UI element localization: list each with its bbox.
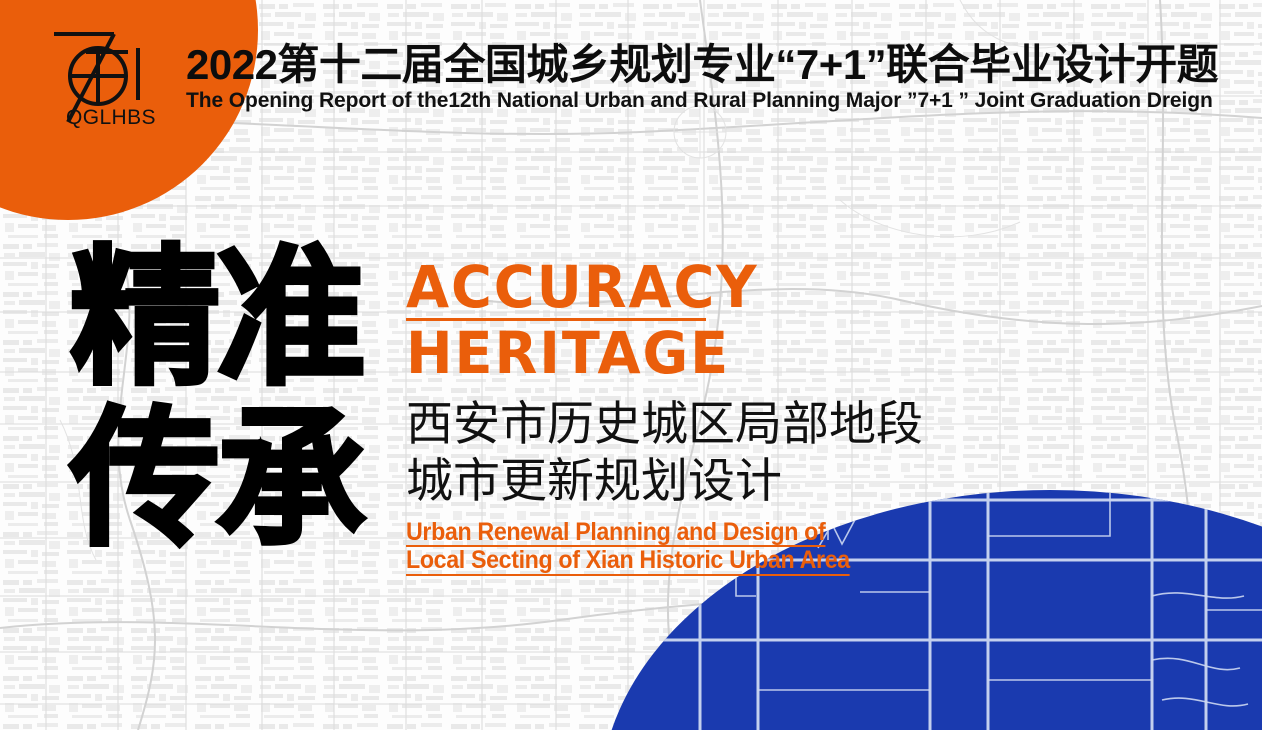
subject-chinese-line-1: 西安市历史城区局部地段 [406,396,923,453]
slogan-line-2: 传承 [70,409,362,552]
header-title-english: The Opening Report of the12th National U… [186,89,1218,113]
subject-english-block: Urban Renewal Planning and Design of Loc… [406,519,923,576]
subject-english-line-1: Urban Renewal Planning and Design of [406,519,825,548]
poster-canvas: QGLHBS 2022第十二届全国城乡规划专业“7+1”联合毕业设计开题 The… [0,0,1262,730]
subject-chinese-block: 西安市历史城区局部地段 城市更新规划设计 [406,396,923,511]
event-logo: QGLHBS [42,18,166,136]
header-block: 2022第十二届全国城乡规划专业“7+1”联合毕业设计开题 The Openin… [186,44,1218,113]
slogan-block: 精准 传承 [70,248,362,551]
slogan-line-1: 精准 [70,248,362,391]
logo-wordmark: QGLHBS [66,106,156,130]
subject-english-line-2: Local Secting of Xian Historic Urban Are… [406,547,850,576]
subject-block: ACCURACY HERITAGE 西安市历史城区局部地段 城市更新规划设计 U… [406,258,923,576]
header-title-chinese: 2022第十二届全国城乡规划专业“7+1”联合毕业设计开题 [186,44,1218,87]
subject-chinese-line-2: 城市更新规划设计 [406,453,923,510]
accent-english-accuracy: ACCURACY [406,258,902,316]
accent-english-heritage: HERITAGE [406,324,902,382]
